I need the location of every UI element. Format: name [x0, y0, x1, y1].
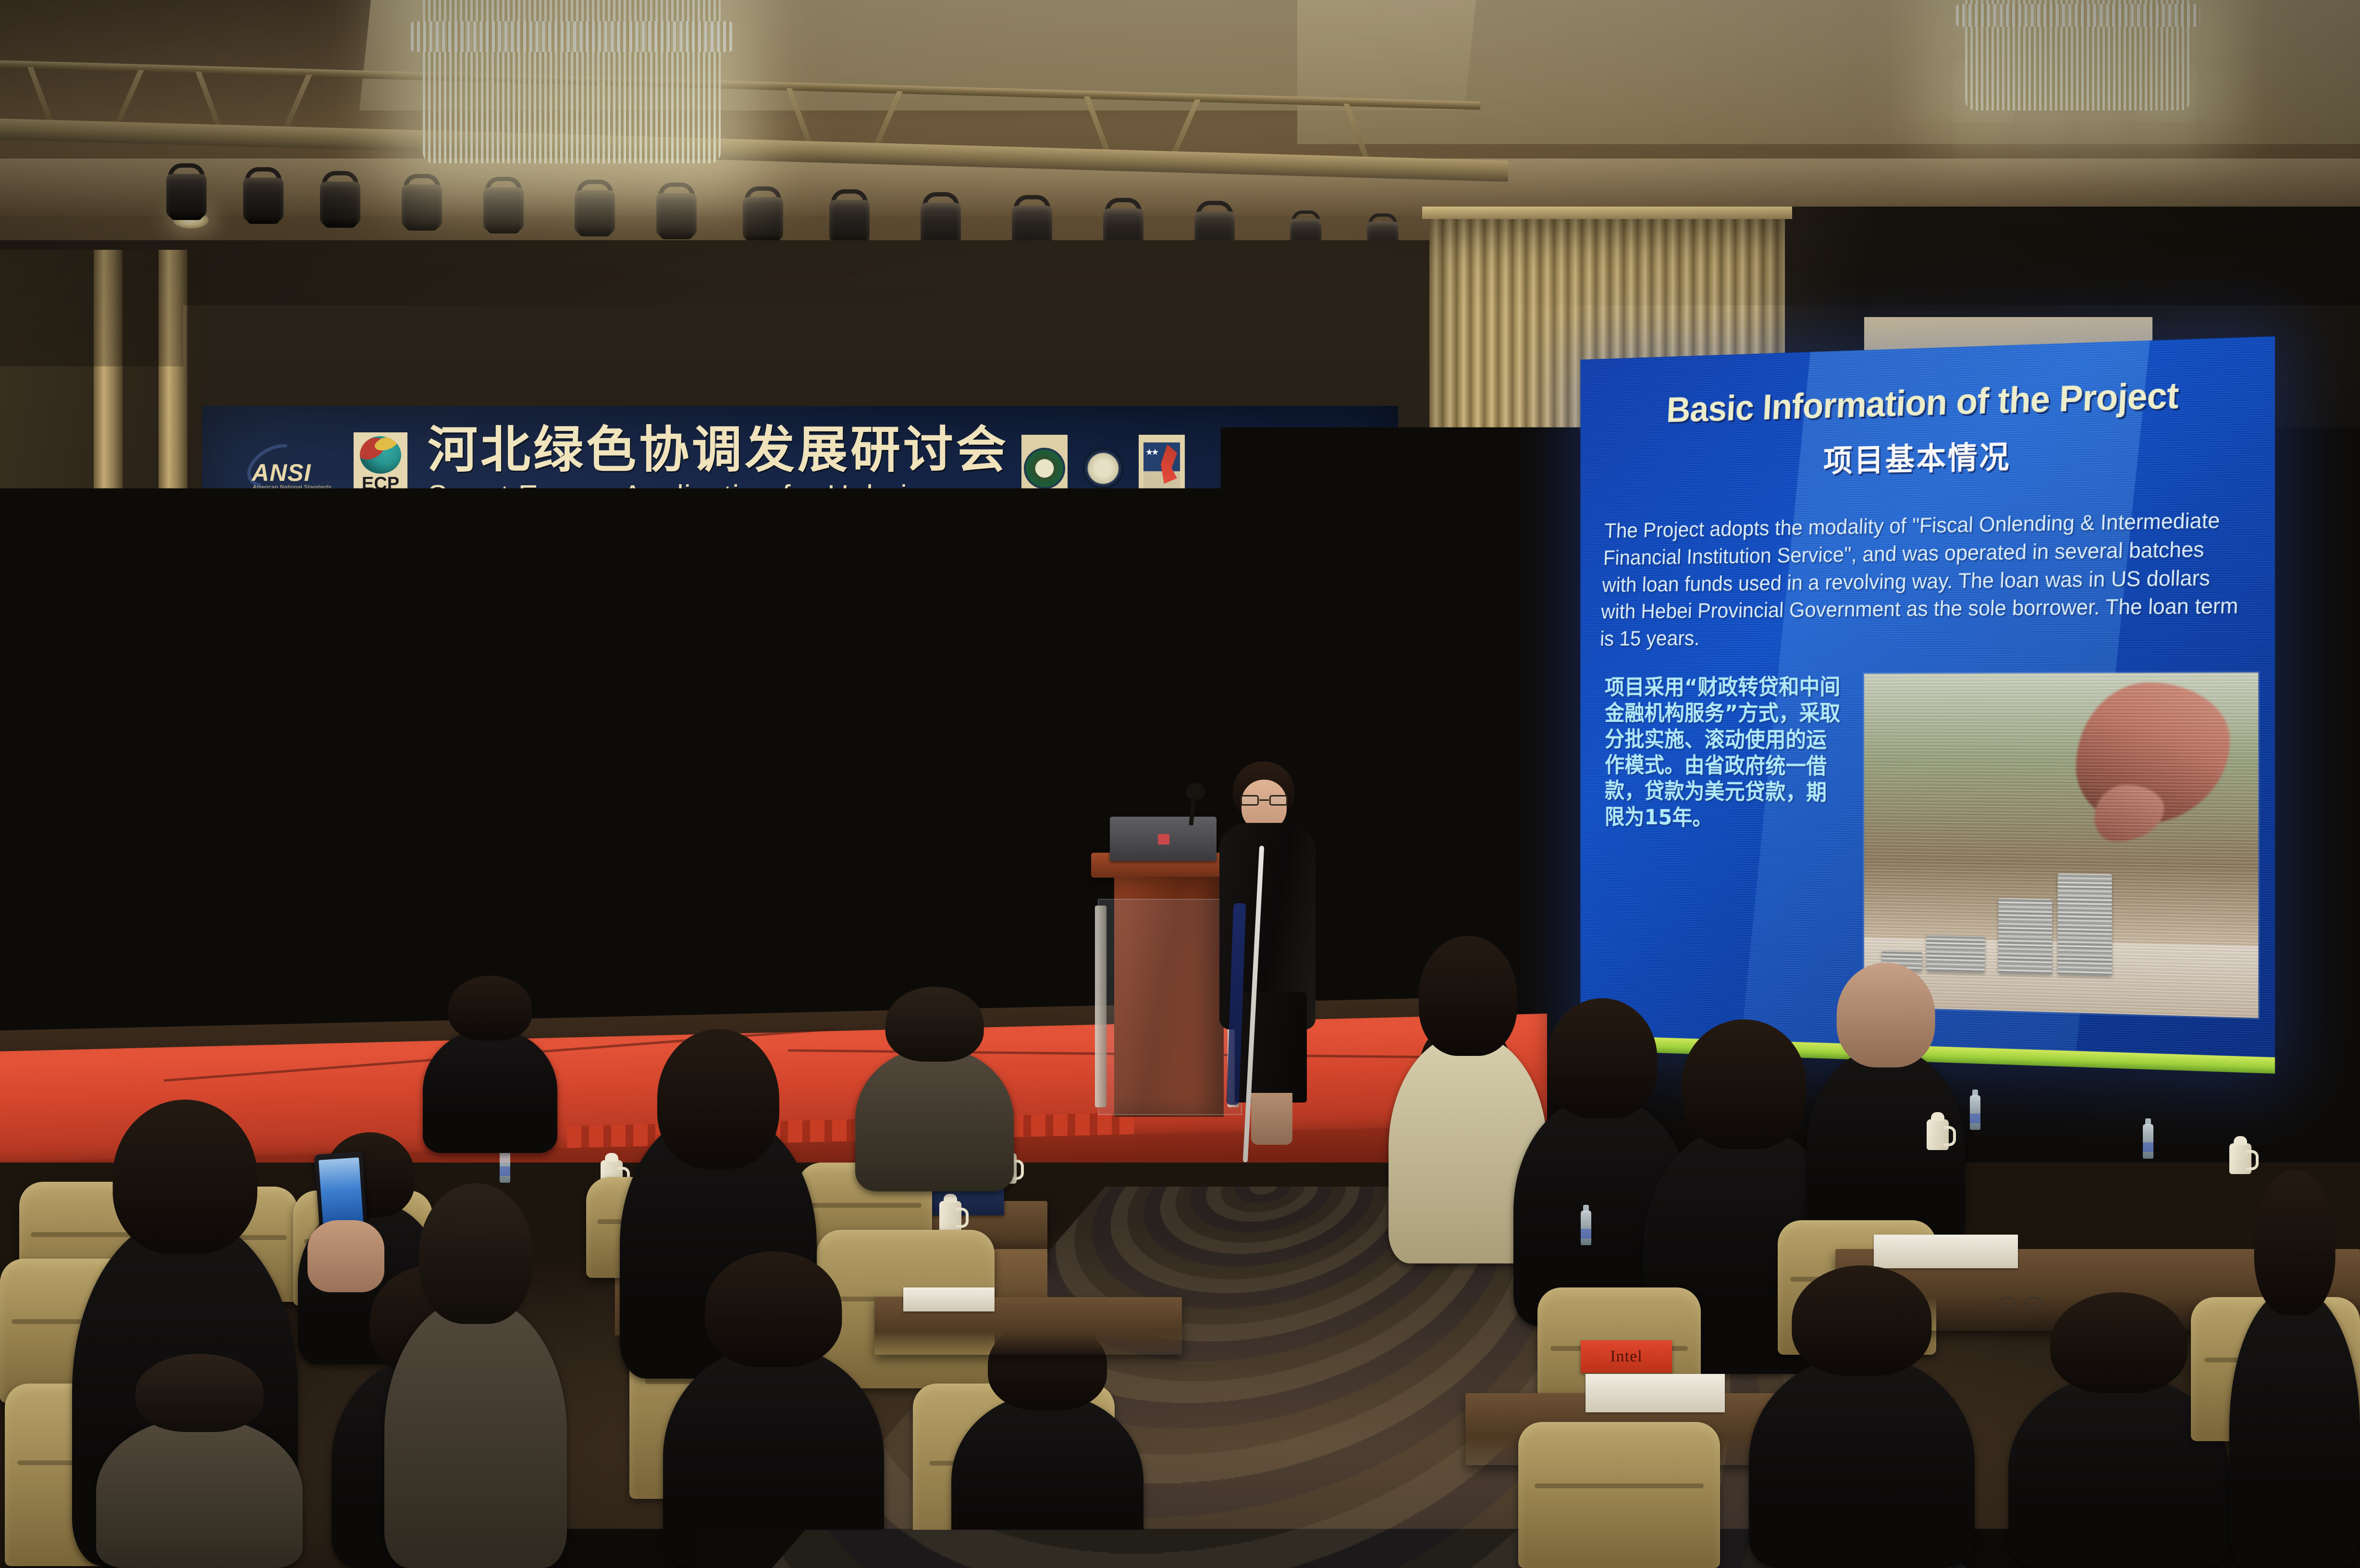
podium-laptop — [1110, 817, 1217, 861]
en-item: US–China Energy Cooperation Program (ECP… — [641, 737, 1369, 753]
ansi-logo-subtext: American National Standards Institute — [253, 484, 341, 497]
stage-light-icon — [399, 174, 445, 235]
fcs-logo — [1139, 435, 1185, 502]
jc-mark-icon — [442, 891, 468, 919]
chair — [1316, 1249, 1475, 1393]
audience-person — [663, 1345, 884, 1568]
audience-person — [384, 1297, 567, 1568]
stage-light-icon — [86, 159, 133, 220]
document-paper — [1586, 1374, 1725, 1412]
speaker-skirt — [1235, 992, 1307, 1102]
audience-person — [855, 1047, 1014, 1191]
stage-light-icon — [240, 167, 286, 229]
cpcep-name-cn: 国能中电 — [663, 878, 748, 907]
audience-person — [96, 1417, 303, 1568]
curtain-rod — [1422, 207, 1792, 219]
water-bottle — [500, 1148, 510, 1183]
tea-mug — [1927, 1119, 1949, 1150]
en-label-cohosts: Cohosts: — [605, 710, 1369, 729]
photo-scanline-overlay — [1864, 673, 2258, 1018]
microphone-icon — [1186, 783, 1205, 799]
water-bottle — [2143, 1124, 2153, 1159]
en-item: U.S. Department of Energy China Office — [641, 661, 1369, 677]
slide-photo-coins — [1864, 673, 2258, 1018]
cn-item: 河北省发展和改革委员会 — [322, 720, 577, 746]
anajie-logo: 安纳杰 — [778, 867, 842, 943]
stage-light-icon — [572, 180, 618, 241]
building-logo — [505, 878, 588, 932]
ecp-logo: ECP 中美能源合作项目 — [354, 432, 407, 504]
slide-body-english: The Project adopts the modality of "Fisc… — [1599, 506, 2243, 652]
tea-mug — [939, 1201, 961, 1232]
eyeglasses-icon — [1999, 1297, 2042, 1309]
stage-light-icon — [740, 186, 786, 248]
en-item: Commercial Service of the US Embassy (FC… — [641, 637, 1369, 653]
en-label-sponsored: Sponsored by: — [605, 559, 1369, 577]
cpcep-name-en: CPCEP — [663, 907, 748, 933]
cn-item: 美国国家标准协会 — [322, 818, 577, 844]
water-bottle — [1970, 1095, 1980, 1130]
cpcep-logo: 国能中电 国能中电 CPCEP — [619, 878, 748, 933]
audience-person — [1749, 1355, 1975, 1568]
document-paper — [1874, 1235, 2018, 1268]
cn-item: 美国贸易发展署 — [322, 588, 577, 615]
stage-light-icon — [317, 171, 363, 233]
cpcep-chop-icon: 国能中电 — [619, 880, 658, 930]
magnadrive-logo: MagnaDrive CORPORATION — [873, 891, 979, 919]
ansi-logo: ANSI American National Standards Institu… — [245, 445, 341, 491]
en-label-partnership: In partnership with: — [605, 610, 1369, 628]
cn-label-support: 支持单位： — [259, 622, 577, 647]
johnson-controls-logo: Johnson Controls — [394, 879, 475, 931]
anajie-swirl-icon — [784, 867, 836, 928]
ansi-logo-text: ANSI — [252, 459, 311, 487]
slide-title-chinese: 项目基本情况 — [1580, 425, 2275, 486]
audience-person — [2229, 1287, 2360, 1568]
cn-label-guidance: 指导单位： — [259, 557, 577, 582]
stage-light-icon — [653, 183, 700, 244]
wall-gold-column — [159, 250, 187, 1066]
conference-hall-photo: ANSI American National Standards Institu… — [0, 0, 2360, 1568]
cn-item: 美国驻华使馆商务处 — [322, 653, 577, 680]
doe-seal — [1021, 435, 1068, 502]
speaker-glasses-icon — [1241, 795, 1288, 806]
banner-title-english: Smart Energy Application for Hebei — [428, 479, 1009, 513]
jc-line2: Controls — [398, 905, 440, 917]
stage-light-icon — [163, 163, 209, 225]
banner-header-row: ANSI American National Standards Institu… — [202, 406, 1398, 531]
led-projection-screen: Basic Information of the Project 项目基本情况 … — [1580, 336, 2275, 1074]
intel-nameplate: Intel — [1581, 1340, 1672, 1373]
audience-person — [423, 1028, 557, 1153]
magnadrive-part1: Magna — [873, 891, 931, 912]
speaker-legs — [1251, 1093, 1292, 1145]
cn-item: 美国能源部中国办公室 — [322, 686, 577, 713]
magnadrive-part2: Drive — [931, 891, 979, 912]
en-item: U.S. Trade and Development Agency (USTDA… — [641, 585, 1369, 601]
hand — [307, 1220, 384, 1292]
jc-line1: Johnson — [398, 894, 440, 905]
banner-title-chinese: 河北绿色协调发展研讨会 — [428, 424, 1009, 476]
ecp-logo-text: ECP — [362, 475, 399, 493]
chair — [1518, 1422, 1720, 1568]
chandelier — [423, 0, 721, 163]
tea-mug — [2229, 1143, 2251, 1174]
slide-body-chinese: 项目采用“财政转贷和中间金融机构服务”方式，采取分批实施、滚动使用的运作模式。由… — [1605, 674, 1845, 833]
magnadrive-sub: CORPORATION — [873, 912, 979, 919]
anajie-name-cn: 安纳杰 — [778, 928, 842, 943]
ecp-logo-subtext: 中美能源合作项目 — [364, 493, 397, 498]
cn-item: 中美能源合作项目 — [322, 784, 577, 811]
cn-label-host: 主办单位： — [259, 753, 577, 778]
stage-light-icon — [480, 177, 527, 238]
ecp-globe-icon — [360, 436, 401, 474]
chandelier — [1965, 0, 2191, 110]
document-paper — [903, 1287, 995, 1311]
banner-chinese-column: 指导单位： 美国贸易发展署 支持单位： 美国驻华使馆商务处 美国能源部中国办公室… — [259, 550, 577, 877]
en-item: Department of Reform and Development Com… — [641, 686, 1369, 702]
audience-person — [951, 1393, 1143, 1568]
cn-item: 河北省节能监察监测中心 — [322, 851, 577, 877]
water-bottle — [1581, 1211, 1591, 1245]
wall-gold-column — [94, 250, 123, 1066]
ustda-seal — [1080, 435, 1126, 502]
